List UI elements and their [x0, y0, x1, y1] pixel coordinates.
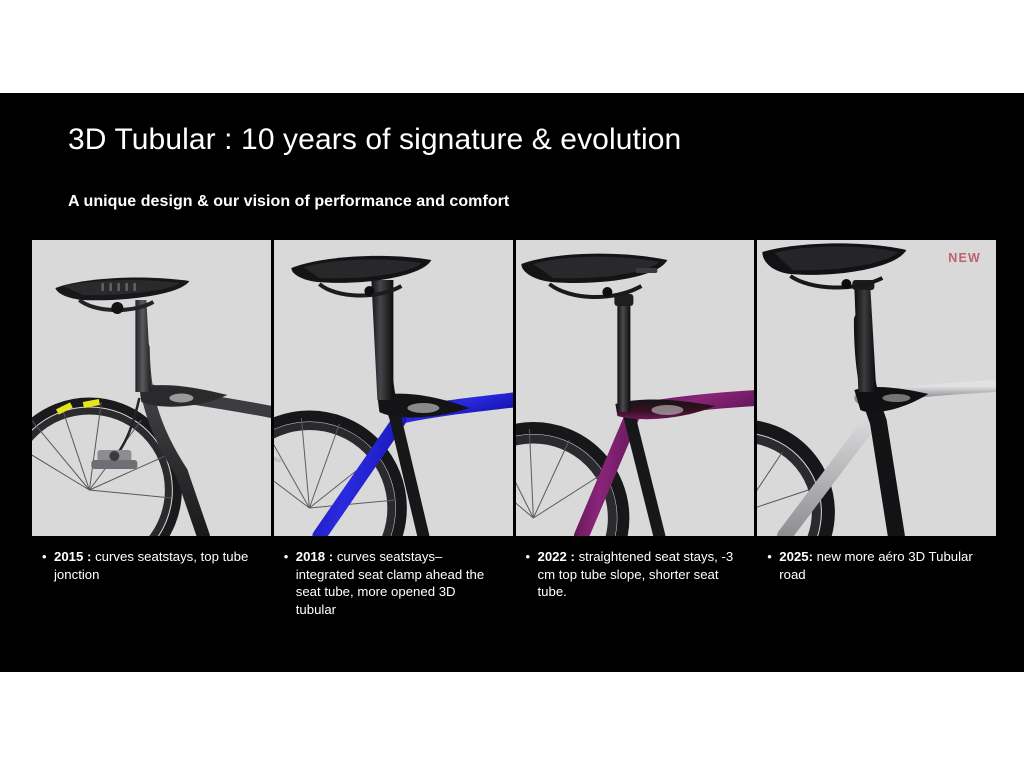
image-panel-2015[interactable] — [32, 240, 271, 536]
caption-year-2015: 2015 : — [54, 549, 91, 564]
svg-text:VITTORIA: VITTORIA — [274, 458, 283, 464]
page-subtitle: A unique design & our vision of performa… — [68, 193, 509, 211]
caption-2022: • 2022 : straightened seat stays, -3 cm … — [516, 548, 755, 658]
caption-2015: • 2015 : curves seatstays, top tube jonc… — [32, 548, 271, 658]
caption-year-2025: 2025: — [779, 549, 813, 564]
caption-2018: • 2018 : curves seatstays–integrated sea… — [274, 548, 513, 658]
bullet-icon: • — [757, 548, 779, 565]
caption-2025: • 2025: new more aéro 3D Tubular road — [757, 548, 996, 658]
image-panel-2018[interactable]: VITTORIA — [274, 240, 513, 536]
bike-illustration-2025: PIRELLI — [757, 240, 996, 536]
caption-text-2015: 2015 : curves seatstays, top tube joncti… — [54, 548, 254, 583]
caption-year-2018: 2018 : — [296, 549, 333, 564]
bike-image-gallery: VITTORIA — [32, 240, 996, 536]
image-panel-2022[interactable]: VITTORIA — [516, 240, 755, 536]
bike-illustration-2018: VITTORIA — [274, 240, 513, 536]
status-badge: NEW — [948, 251, 981, 265]
slide: 3D Tubular : 10 years of signature & evo… — [0, 93, 1024, 672]
caption-row: • 2015 : curves seatstays, top tube jonc… — [32, 548, 996, 658]
bike-illustration-2015 — [32, 240, 271, 536]
presentation-canvas: 3D Tubular : 10 years of signature & evo… — [0, 0, 1024, 768]
caption-text-2022: 2022 : straightened seat stays, -3 cm to… — [538, 548, 738, 601]
bullet-icon: • — [516, 548, 538, 565]
caption-text-2025: 2025: new more aéro 3D Tubular road — [779, 548, 979, 583]
caption-year-2022: 2022 : — [538, 549, 575, 564]
page-title: 3D Tubular : 10 years of signature & evo… — [68, 123, 681, 157]
image-panel-2025[interactable]: NEW — [757, 240, 996, 536]
bullet-icon: • — [274, 548, 296, 565]
bike-illustration-2022: VITTORIA — [516, 240, 755, 536]
caption-text-2018: 2018 : curves seatstays–integrated seat … — [296, 548, 496, 618]
bullet-icon: • — [32, 548, 54, 565]
